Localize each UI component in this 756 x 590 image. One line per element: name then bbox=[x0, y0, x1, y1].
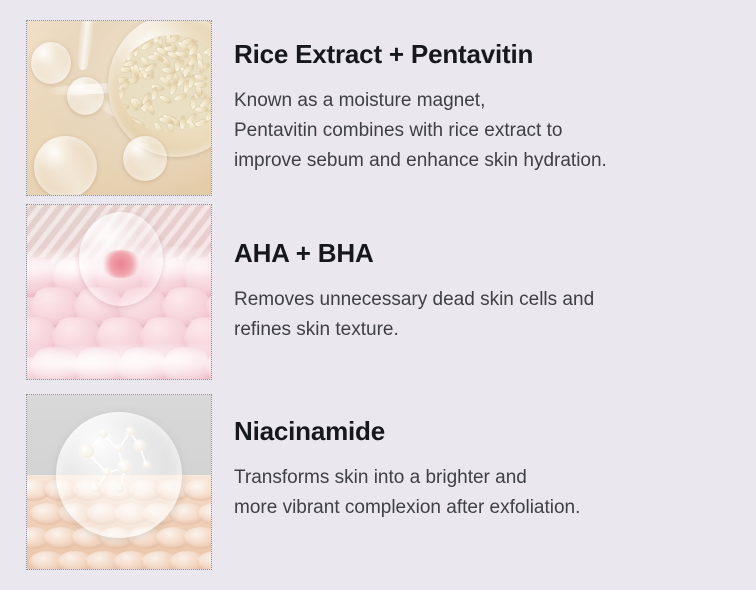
molecule-node bbox=[143, 461, 150, 468]
ingredient-row: AHA + BHA Removes unnecessary dead skin … bbox=[0, 204, 756, 380]
ingredient-image-rice-extract-pentavitin bbox=[26, 20, 212, 196]
ingredient-title: AHA + BHA bbox=[234, 239, 744, 268]
foam-layer bbox=[26, 344, 212, 380]
molecule-node bbox=[118, 460, 131, 473]
molecule-node bbox=[90, 483, 100, 493]
ingredient-row: Rice Extract + Pentavitin Known as a moi… bbox=[0, 20, 756, 196]
ingredient-title: Niacinamide bbox=[234, 417, 744, 446]
serum-strand-icon bbox=[75, 20, 94, 70]
molecule-icon bbox=[82, 426, 163, 496]
molecule-node bbox=[134, 440, 145, 451]
molecule-node bbox=[115, 445, 122, 452]
ingredient-image-aha-bha bbox=[26, 204, 212, 380]
serum-bubble-icon bbox=[31, 42, 71, 84]
molecule-node bbox=[126, 427, 134, 435]
ingredient-row: Niacinamide Transforms skin into a brigh… bbox=[0, 394, 756, 570]
ingredient-list: Rice Extract + Pentavitin Known as a moi… bbox=[0, 0, 756, 590]
ingredient-copy: AHA + BHA Removes unnecessary dead skin … bbox=[234, 239, 744, 345]
ingredient-copy: Niacinamide Transforms skin into a brigh… bbox=[234, 417, 744, 523]
molecule-node bbox=[103, 468, 111, 476]
molecule-node bbox=[115, 484, 124, 493]
skin-cells-illustration bbox=[27, 205, 211, 379]
ingredient-description: Known as a moisture magnet, Pentavitin c… bbox=[234, 86, 744, 176]
ingredient-description: Transforms skin into a brighter and more… bbox=[234, 463, 744, 523]
ingredient-title: Rice Extract + Pentavitin bbox=[234, 40, 744, 69]
rice-extract-illustration bbox=[27, 21, 211, 195]
active-core-icon bbox=[101, 250, 141, 278]
ingredient-image-niacinamide bbox=[26, 394, 212, 570]
niacinamide-illustration bbox=[27, 395, 211, 569]
serum-bubble-icon bbox=[67, 77, 104, 115]
serum-bubble-icon bbox=[123, 136, 167, 181]
ingredient-description: Removes unnecessary dead skin cells and … bbox=[234, 285, 744, 345]
ingredient-copy: Rice Extract + Pentavitin Known as a moi… bbox=[234, 40, 744, 176]
rice-grain-cluster-icon bbox=[119, 35, 212, 132]
serum-bubble-icon bbox=[34, 136, 97, 196]
